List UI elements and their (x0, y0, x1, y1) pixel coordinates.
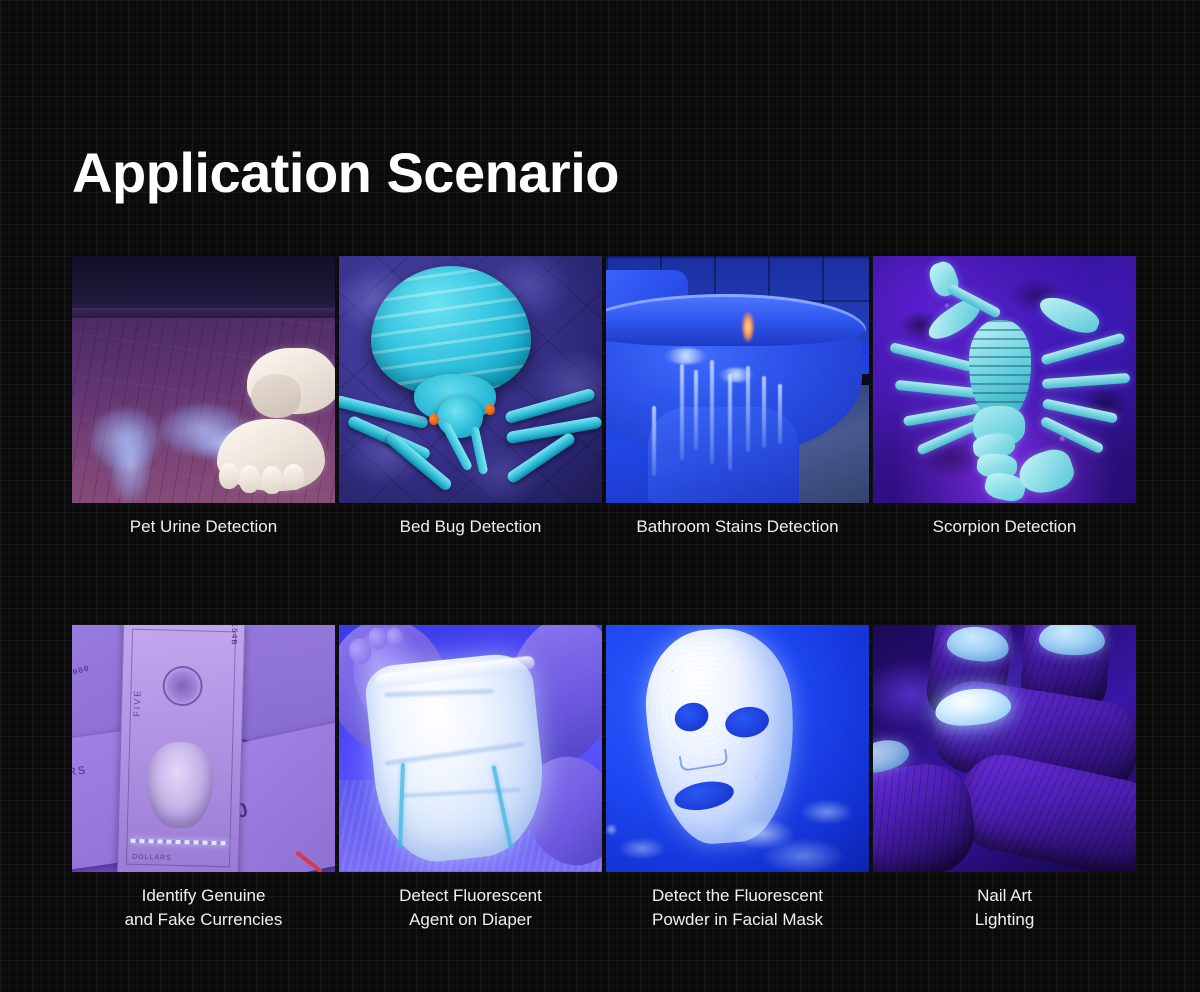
urine-drip (746, 366, 750, 452)
banknote-serial-left: CK 0000 (72, 664, 91, 684)
scenario-caption: Bathroom Stains Detection (606, 515, 869, 540)
paw-toe (239, 465, 260, 493)
diaper-fluorescent-seam (492, 765, 513, 848)
diaper-uv-photo[interactable] (339, 625, 602, 872)
paw-toe (283, 464, 304, 490)
bug-eye (429, 414, 439, 425)
scenario-cell-bathroom[interactable]: Bathroom Stains Detection (606, 256, 869, 540)
scenario-grid: Pet Urine Detection (72, 256, 1136, 933)
scenario-cell-currency[interactable]: CK 0000 DOLLARS 100 J03306154B (72, 625, 335, 933)
nail-art-uv-photo[interactable] (873, 625, 1136, 872)
scenario-caption: Identify Genuine and Fake Currencies (72, 884, 335, 933)
dog-paw-front (217, 419, 325, 491)
scenario-caption: Bed Bug Detection (339, 515, 602, 540)
currency-uv-photo[interactable]: CK 0000 DOLLARS 100 J03306154B (72, 625, 335, 872)
scenario-caption: Detect Fluorescent Agent on Diaper (339, 884, 602, 933)
diaper-fold (384, 688, 494, 697)
urine-drip (710, 360, 714, 464)
baseboard (72, 308, 335, 318)
scenario-caption: Scorpion Detection (873, 515, 1136, 540)
scenario-cell-diaper[interactable]: Detect Fluorescent Agent on Diaper (339, 625, 602, 933)
scenario-caption: Pet Urine Detection (72, 515, 335, 540)
scenario-row-2: CK 0000 DOLLARS 100 J03306154B (72, 625, 1136, 933)
urine-drip (728, 374, 732, 470)
diaper-fluorescent-seam (398, 763, 405, 847)
banknote-word-five: FIVE (132, 688, 143, 716)
bug-eye (485, 404, 495, 415)
bathroom-stains-uv-photo[interactable] (606, 256, 869, 503)
banknote-word-dollars: DOLLARS (72, 764, 88, 785)
fluorescent-hotspot (742, 312, 754, 342)
scorpion-mesosoma (969, 320, 1031, 418)
urine-drip (680, 364, 684, 460)
urine-drip (762, 376, 766, 448)
toilet-pedestal (648, 407, 798, 503)
paw-toe (261, 466, 283, 494)
scenario-cell-scorpion[interactable]: Scorpion Detection (873, 256, 1136, 540)
urine-drip (652, 406, 656, 476)
scenario-cell-facial-mask[interactable]: Detect the Fluorescent Powder in Facial … (606, 625, 869, 933)
banknote-serial-right: J03306154B (229, 625, 240, 645)
water-splash-right (715, 768, 869, 872)
scenario-caption: Detect the Fluorescent Powder in Facial … (606, 884, 869, 933)
scenario-cell-bed-bug[interactable]: Bed Bug Detection (339, 256, 602, 540)
glowing-nail (1038, 625, 1105, 656)
scenario-row-1: Pet Urine Detection (72, 256, 1136, 540)
diaper-fold (385, 741, 524, 765)
scorpion-uv-photo[interactable] (873, 256, 1136, 503)
scenario-cell-nail-art[interactable]: Nail Art Lighting (873, 625, 1136, 933)
pet-urine-uv-photo[interactable] (72, 256, 335, 503)
application-scenario-page: Application Scenario (0, 0, 1200, 992)
paw-toe (219, 463, 239, 489)
urine-drip (778, 384, 782, 444)
wall-region (72, 256, 335, 316)
uv-pink-thread (72, 653, 73, 665)
banknote-bottom-text: DOLLARS (132, 853, 172, 861)
urine-stain-glow (110, 424, 150, 502)
scenario-caption: Nail Art Lighting (873, 884, 1136, 933)
facial-mask-uv-photo[interactable] (606, 625, 869, 872)
foreground-five-dollar-bill: J03306154B FIVE DOLLARS (117, 625, 246, 872)
page-title: Application Scenario (72, 142, 619, 204)
stain-splash (664, 348, 708, 364)
baby-toe (385, 625, 405, 648)
bed-bug-uv-photo[interactable] (339, 256, 602, 503)
urine-drip (694, 370, 698, 450)
dog-paw-rear-inner (251, 374, 301, 418)
diaper-fold (403, 787, 521, 797)
scenario-cell-pet-urine[interactable]: Pet Urine Detection (72, 256, 335, 540)
